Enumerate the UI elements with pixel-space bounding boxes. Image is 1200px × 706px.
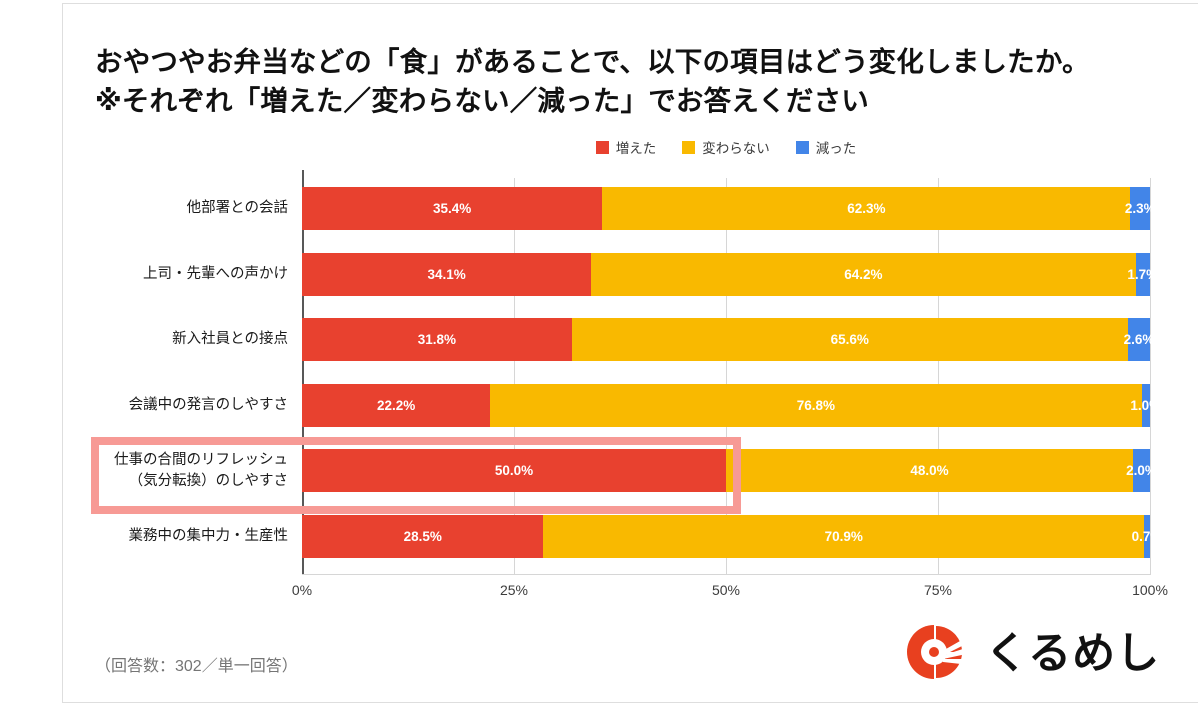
bar-segment-2[interactable]: 2.6% (1128, 318, 1150, 361)
bar-value-label: 1.7% (1127, 267, 1158, 282)
bar-segment-1[interactable]: 76.8% (490, 384, 1141, 427)
category-label-5: 業務中の集中力・生産性 (0, 515, 288, 558)
bar-value-label: 0.7% (1132, 529, 1163, 544)
bar-segment-2[interactable]: 2.3% (1130, 187, 1150, 230)
category-label-1: 上司・先輩への声かけ (0, 253, 288, 296)
bar-segment-1[interactable]: 62.3% (602, 187, 1130, 230)
x-axis-ticks: 0%25%50%75%100% (302, 582, 1150, 602)
bar-value-label: 70.9% (825, 529, 863, 544)
bar-value-label: 62.3% (847, 201, 885, 216)
brand-logo-text: くるめし (985, 633, 1160, 676)
page-title: おやつやお弁当などの「食」があることで、以下の項目はどう変化しましたか。 ※それ… (95, 42, 1155, 120)
bar-segment-0[interactable]: 28.5% (302, 515, 543, 558)
bar-value-label: 1.0% (1130, 398, 1161, 413)
bar-row[interactable]: 31.8%65.6%2.6% (302, 318, 1150, 361)
bar-value-label: 48.0% (910, 463, 948, 478)
x-tick-label-100: 100% (1132, 582, 1168, 598)
bar-segment-2[interactable]: 1.0% (1142, 384, 1150, 427)
bar-value-label: 31.8% (418, 332, 456, 347)
bar-row[interactable]: 28.5%70.9%0.7% (302, 515, 1150, 558)
bar-segment-0[interactable]: 50.0% (302, 449, 726, 492)
bar-value-label: 76.8% (797, 398, 835, 413)
legend-item-0[interactable]: 増えた (596, 137, 657, 157)
chart-legend: 増えた変わらない減った (300, 137, 1152, 157)
bar-segment-1[interactable]: 48.0% (726, 449, 1133, 492)
bar-segment-0[interactable]: 22.2% (302, 384, 490, 427)
legend-swatch-icon (796, 141, 809, 154)
bar-value-label: 35.4% (433, 201, 471, 216)
legend-swatch-icon (596, 141, 609, 154)
bar-value-label: 22.2% (377, 398, 415, 413)
chart-page: おやつやお弁当などの「食」があることで、以下の項目はどう変化しましたか。 ※それ… (0, 0, 1200, 706)
brand-logo: くるめし (905, 625, 1160, 683)
legend-label: 増えた (616, 137, 657, 157)
legend-label: 変わらない (702, 137, 770, 157)
bar-segment-0[interactable]: 31.8% (302, 318, 572, 361)
bar-segment-2[interactable]: 0.7% (1144, 515, 1150, 558)
legend-item-2[interactable]: 減った (796, 137, 857, 157)
bar-value-label: 50.0% (495, 463, 533, 478)
bar-value-label: 64.2% (844, 267, 882, 282)
category-label-4: 仕事の合間のリフレッシュ （気分転換）のしやすさ (0, 449, 288, 492)
bar-value-label: 28.5% (404, 529, 442, 544)
response-count-note: （回答数：302／単一回答） (95, 652, 298, 676)
x-tick-label-25: 25% (500, 582, 528, 598)
gridline-100 (1150, 178, 1151, 575)
bar-value-label: 2.3% (1125, 201, 1156, 216)
x-tick-label-50: 50% (712, 582, 740, 598)
bar-segment-2[interactable]: 2.0% (1133, 449, 1150, 492)
bar-segment-2[interactable]: 1.7% (1136, 253, 1150, 296)
bar-segment-1[interactable]: 70.9% (543, 515, 1144, 558)
bar-value-label: 34.1% (427, 267, 465, 282)
bar-row[interactable]: 35.4%62.3%2.3% (302, 187, 1150, 230)
legend-item-1[interactable]: 変わらない (682, 137, 770, 157)
bar-segment-1[interactable]: 64.2% (591, 253, 1135, 296)
bar-segment-0[interactable]: 35.4% (302, 187, 602, 230)
x-tick-label-0: 0% (292, 582, 312, 598)
chart-plot-area: 35.4%62.3%2.3%34.1%64.2%1.7%31.8%65.6%2.… (302, 178, 1150, 575)
bar-segment-0[interactable]: 34.1% (302, 253, 591, 296)
bar-row[interactable]: 34.1%64.2%1.7% (302, 253, 1150, 296)
bar-segment-1[interactable]: 65.6% (572, 318, 1128, 361)
bar-row[interactable]: 22.2%76.8%1.0% (302, 384, 1150, 427)
bar-value-label: 2.0% (1126, 463, 1157, 478)
legend-swatch-icon (682, 141, 695, 154)
bar-value-label: 2.6% (1124, 332, 1155, 347)
kurumeshi-logo-mark-icon (905, 623, 971, 686)
bar-row[interactable]: 50.0%48.0%2.0% (302, 449, 1150, 492)
x-tick-label-75: 75% (924, 582, 952, 598)
category-label-0: 他部署との会話 (0, 187, 288, 230)
category-label-3: 会議中の発言のしやすさ (0, 384, 288, 427)
bar-value-label: 65.6% (831, 332, 869, 347)
legend-label: 減った (816, 137, 857, 157)
category-label-2: 新入社員との接点 (0, 318, 288, 361)
